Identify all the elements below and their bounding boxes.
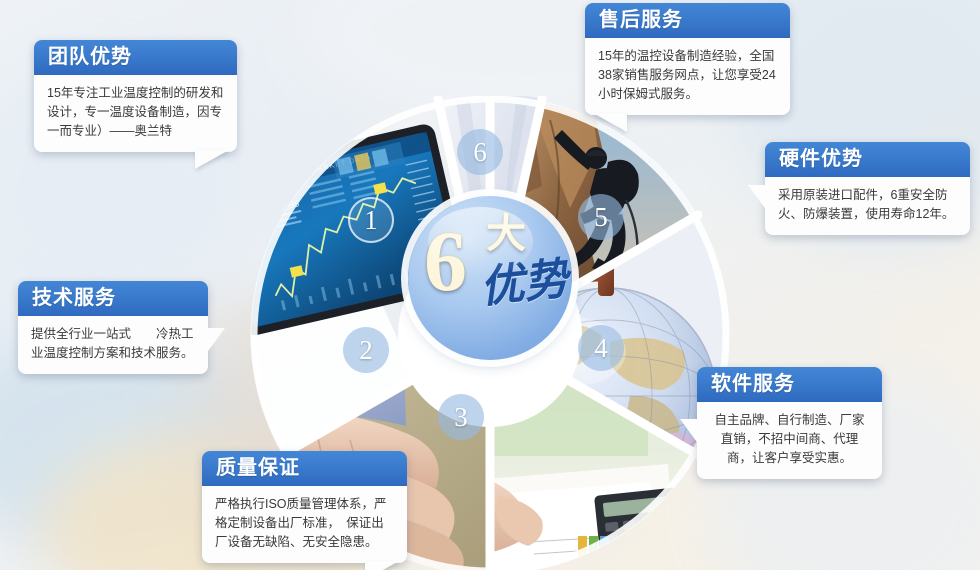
segment-number-6-label: 6 [473, 137, 487, 168]
callout-software-title: 软件服务 [697, 367, 882, 402]
callout-software-tail-icon [680, 419, 699, 445]
callout-hardware-tail-icon [748, 185, 767, 211]
callout-software-body: 自主品牌、自行制造、厂家直销，不招中间商、代理商，让客户享受实惠。 [697, 402, 882, 479]
segment-number-2[interactable]: 2 [343, 327, 389, 373]
callout-technical-title: 技术服务 [18, 281, 208, 316]
callout-quality-tail-icon [365, 561, 399, 570]
segment-number-1-label: 1 [364, 205, 378, 236]
segment-number-5[interactable]: 5 [578, 194, 624, 240]
center-unit-label: 大 [486, 214, 526, 254]
center-number: 6 [424, 218, 467, 304]
callout-technical[interactable]: 技术服务 提供全行业一站式 冷热工业温度控制方案和技术服务。 [18, 281, 208, 374]
callout-hardware[interactable]: 硬件优势 采用原装进口配件，6重安全防火、防爆装置，使用寿命12年。 [765, 142, 970, 235]
callout-technical-body: 提供全行业一站式 冷热工业温度控制方案和技术服务。 [18, 316, 208, 374]
center-word-label: 优势 [478, 258, 570, 311]
callout-hardware-body: 采用原装进口配件，6重安全防火、防爆装置，使用寿命12年。 [765, 177, 970, 235]
svg-text:INTC: INTC [236, 206, 264, 223]
callout-after-sales[interactable]: 售后服务 15年的温控设备制造经验，全国38家销售服务网点，让您享受24小时保姆… [585, 3, 790, 115]
callout-quality-title: 质量保证 [202, 451, 407, 486]
infographic-canvas: STOCK MARKET DATA INTC 440.95 [0, 0, 980, 570]
callout-after-sales-tail-icon [593, 113, 627, 132]
callout-after-sales-body: 15年的温控设备制造经验，全国38家销售服务网点，让您享受24小时保姆式服务。 [585, 38, 790, 115]
callout-technical-tail-icon [206, 328, 225, 354]
segment-number-4[interactable]: 4 [578, 325, 624, 371]
segment-number-3-label: 3 [454, 402, 468, 433]
callout-after-sales-title: 售后服务 [585, 3, 790, 38]
segment-number-5-label: 5 [594, 202, 608, 233]
callout-software[interactable]: 软件服务 自主品牌、自行制造、厂家直销，不招中间商、代理商，让客户享受实惠。 [697, 367, 882, 479]
segment-number-4-label: 4 [594, 333, 608, 364]
segment-number-1[interactable]: 1 [348, 197, 394, 243]
callout-quality-body: 严格执行ISO质量管理体系，严格定制设备出厂标准， 保证出厂设备无缺陷、无安全隐… [202, 486, 407, 563]
callout-quality[interactable]: 质量保证 严格执行ISO质量管理体系，严格定制设备出厂标准， 保证出厂设备无缺陷… [202, 451, 407, 563]
segment-number-6[interactable]: 6 [457, 129, 503, 175]
segment-number-3[interactable]: 3 [438, 394, 484, 440]
callout-hardware-title: 硬件优势 [765, 142, 970, 177]
callout-team-title: 团队优势 [34, 40, 237, 75]
callout-team-tail-icon [195, 150, 229, 169]
center-badge: 6 大 优势 [408, 196, 572, 360]
segment-number-2-label: 2 [359, 335, 373, 366]
callout-team[interactable]: 团队优势 15年专注工业温度控制的研发和设计，专一温度设备制造，因专一而专业）—… [34, 40, 237, 152]
callout-team-body: 15年专注工业温度控制的研发和设计，专一温度设备制造，因专一而专业）——奥兰特 [34, 75, 237, 152]
